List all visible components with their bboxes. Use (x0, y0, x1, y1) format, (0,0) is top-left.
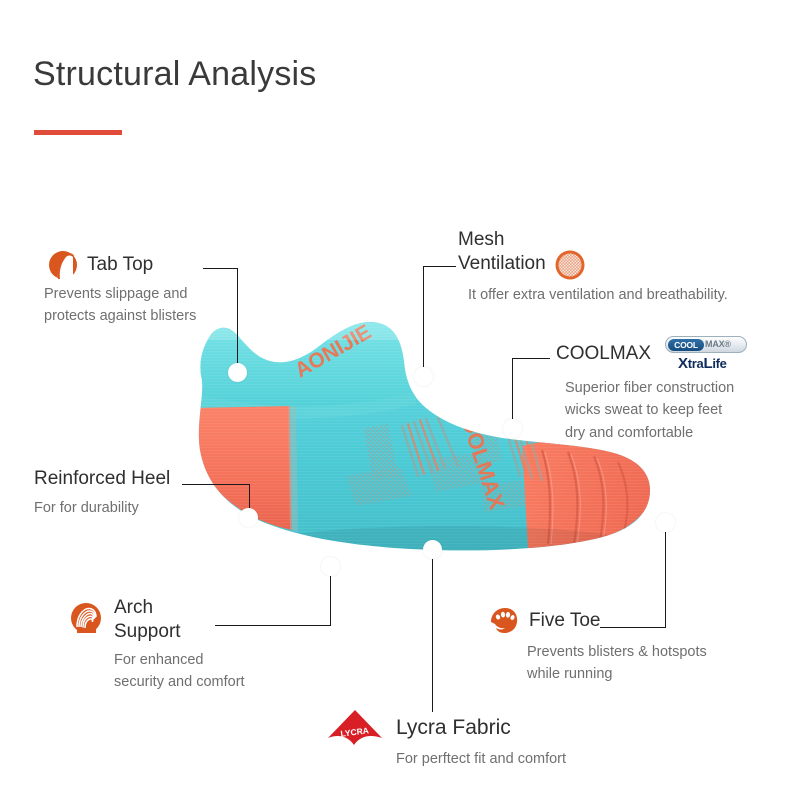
callout-reinforced-heel: Reinforced Heel For for durability (34, 468, 170, 519)
marker-dot-coolmax (503, 419, 522, 438)
leader-line-arch-v (330, 570, 331, 626)
five-toe-paw-icon (489, 606, 519, 636)
callout-title-reinforced-heel: Reinforced Heel (34, 468, 170, 491)
callout-five-toe: Five Toe Prevents blisters & hotspots wh… (489, 606, 707, 686)
marker-dot-five-toe (656, 513, 675, 532)
leader-line-mesh-h (423, 266, 456, 267)
lycra-logo-shape: LYCRA (326, 708, 384, 748)
leader-line-heel-h (182, 484, 250, 485)
leader-line-coolmax-v (512, 358, 513, 428)
arch-support-icon (70, 602, 102, 634)
leader-line-tab-top-h (203, 268, 238, 269)
coolmax-logo-max-text: MAX® (705, 338, 731, 350)
marker-dot-lycra (423, 540, 442, 559)
callout-title-arch-support: Arch Support (114, 596, 181, 644)
callout-arch-support: Arch Support For enhanced security and c… (70, 596, 245, 693)
callout-title-tab-top: Tab Top (87, 254, 153, 277)
leader-line-coolmax-h (512, 358, 550, 359)
callout-title-mesh-ventilation: Mesh Ventilation (458, 228, 546, 276)
callout-desc-lycra-fabric: For perftect fit and comfort (396, 748, 566, 770)
title-accent-rule (34, 130, 122, 135)
marker-dot-tab-top (228, 363, 247, 382)
xtralife-tra: tra (688, 356, 704, 371)
callout-desc-reinforced-heel: For for durability (34, 497, 170, 519)
marker-dot-heel (239, 508, 258, 527)
callout-desc-tab-top: Prevents slippage and protects against b… (44, 283, 196, 328)
structural-analysis-infographic: Structural Analysis (0, 0, 800, 800)
callout-desc-five-toe: Prevents blisters & hotspots while runni… (527, 641, 707, 686)
coolmax-logo: COOL MAX® XtraLife (665, 336, 747, 372)
leader-line-mesh-v (423, 266, 424, 376)
callout-desc-mesh-ventilation: It offer extra ventilation and breathabi… (468, 284, 728, 306)
tab-top-icon (48, 250, 78, 280)
xtralife-l: L (703, 355, 712, 372)
coolmax-logo-xtralife-text: XtraLife (678, 355, 727, 372)
lycra-logo: LYCRA (326, 708, 384, 748)
leader-line-tab-top-v (237, 268, 238, 372)
callout-desc-arch-support: For enhanced security and comfort (114, 649, 245, 694)
callout-coolmax: COOLMAX COOL MAX® XtraLife Superior fibe… (556, 336, 747, 444)
marker-dot-arch (321, 557, 340, 576)
marker-dot-mesh (414, 367, 433, 386)
callout-tab-top: Tab Top Prevents slippage and protects a… (48, 250, 196, 328)
coolmax-logo-cool-text: COOL (668, 339, 704, 351)
callout-title-lycra-fabric: Lycra Fabric (396, 715, 511, 740)
callout-title-coolmax: COOLMAX (556, 343, 651, 366)
callout-title-five-toe: Five Toe (529, 610, 600, 633)
page-title: Structural Analysis (33, 55, 316, 94)
callout-desc-coolmax: Superior fiber construction wicks sweat … (565, 377, 747, 444)
callout-mesh-ventilation: Mesh Ventilation It offer extra ventilat… (458, 228, 728, 306)
mesh-circle-icon (555, 250, 585, 280)
xtralife-x: X (678, 355, 688, 372)
xtralife-ife: ife (712, 356, 726, 371)
leader-line-lycra-v (432, 556, 433, 712)
callout-lycra-fabric: LYCRA Lycra Fabric For perftect fit and … (326, 708, 566, 770)
